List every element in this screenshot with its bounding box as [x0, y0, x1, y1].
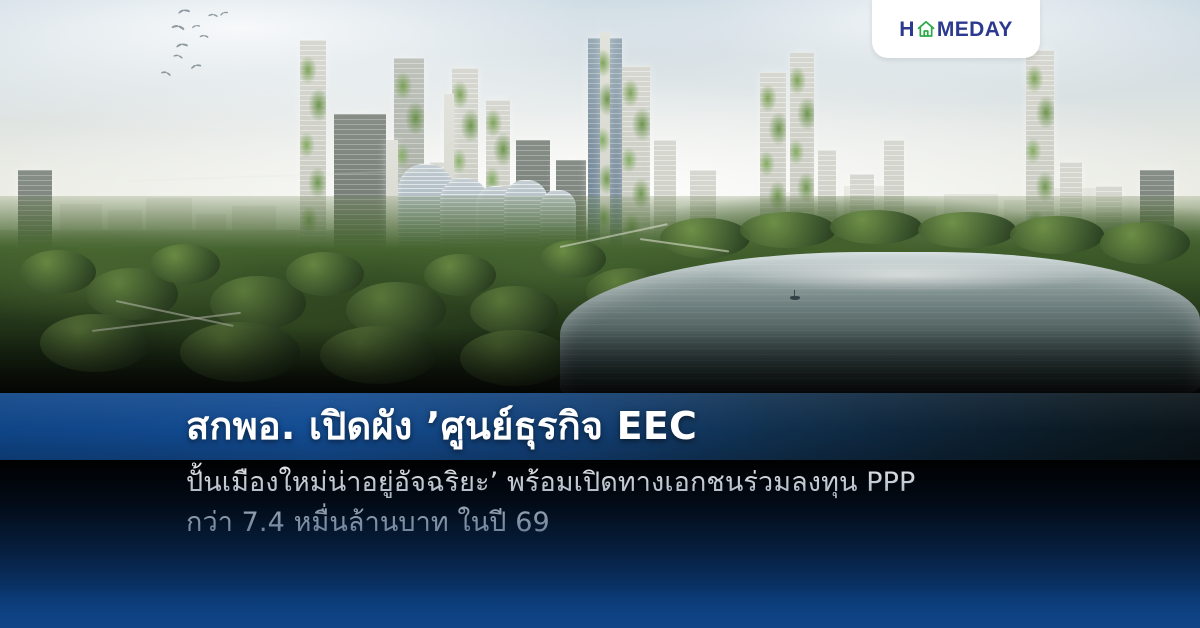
- brand-wordmark: H MEDAY: [899, 19, 1013, 40]
- news-share-card: H MEDAY สกพอ. เปิดผัง ’ศูนย์ธุรกิจ EEC ป…: [0, 0, 1200, 628]
- boat: [790, 296, 800, 300]
- subheadline-line-1: ปั้นเมืองใหม่น่าอยู่อัจฉริยะ’ พร้อมเปิดท…: [186, 463, 1126, 503]
- house-icon: [916, 19, 936, 39]
- subheadline-line-2: กว่า 7.4 หมื่นล้านบาท ในปี 69: [186, 503, 1126, 543]
- homeday-logo-card[interactable]: H MEDAY: [872, 0, 1040, 58]
- lake: [560, 252, 1200, 400]
- cloud-reflection: [714, 258, 1098, 292]
- subheadline: ปั้นเมืองใหม่น่าอยู่อัจฉริยะ’ พร้อมเปิดท…: [186, 463, 1126, 543]
- headline-text: สกพอ. เปิดผัง ’ศูนย์ธุรกิจ EEC: [186, 398, 1086, 454]
- brand-name-before: H: [899, 19, 915, 40]
- hero-image: [0, 0, 1200, 400]
- brand-name-after: MEDAY: [937, 19, 1013, 40]
